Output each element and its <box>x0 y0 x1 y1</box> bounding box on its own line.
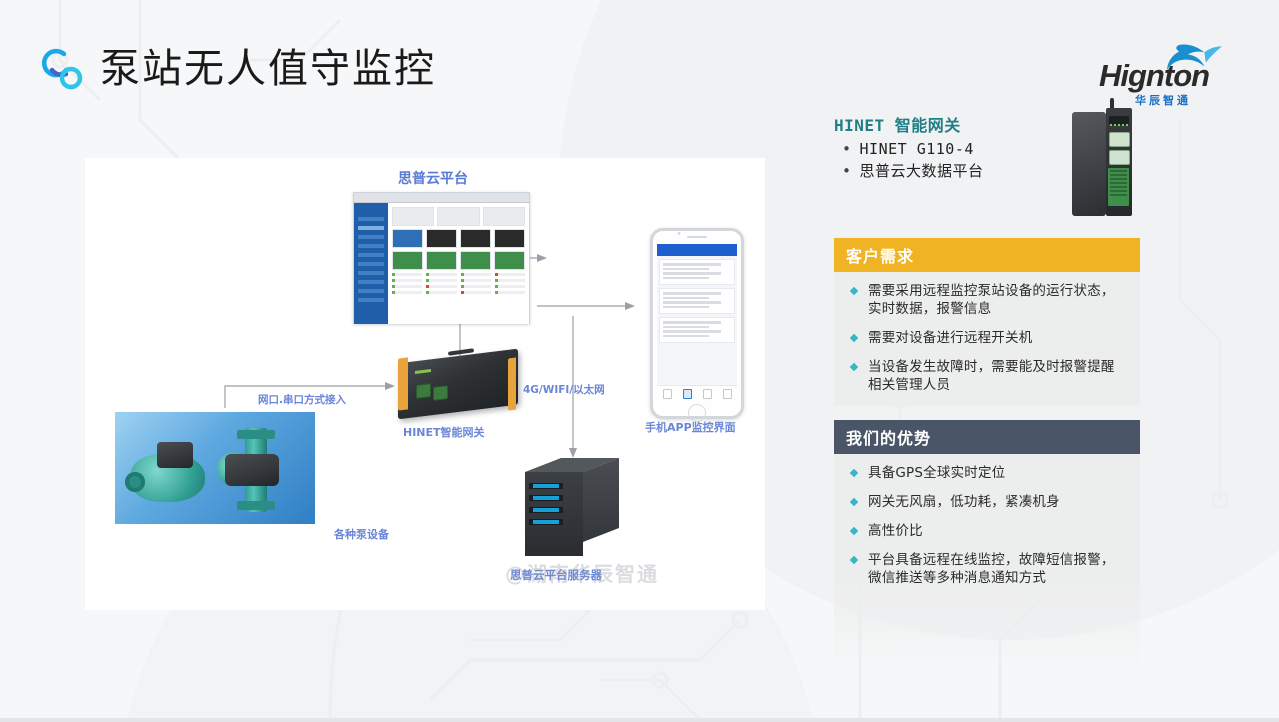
server-drive-bay <box>533 496 559 500</box>
phone-earpiece <box>653 231 741 244</box>
gateway-side-strip <box>398 357 408 410</box>
list-item: 具备GPS全球实时定位 <box>846 464 1128 482</box>
device-rj45-port <box>1109 150 1130 165</box>
industrial-gateway-icon <box>1072 104 1134 224</box>
app-list-item <box>659 288 735 314</box>
arrow-to-server <box>569 448 577 458</box>
watermark-text: @湖南华辰智通 <box>505 558 659 587</box>
dashboard-content <box>388 203 529 324</box>
arrow-to-cloud <box>537 254 547 262</box>
cloud-platform-label: 思普云平台 <box>398 168 468 188</box>
customer-needs-title: 客户需求 <box>834 238 1140 272</box>
architecture-diagram: 思普云平台 <box>85 158 765 610</box>
interlocking-rings-icon <box>34 40 92 96</box>
company-logo: Hignton 华辰智通 <box>1099 42 1239 110</box>
app-titlebar <box>657 244 737 256</box>
phone-caption: 手机APP监控界面 <box>645 419 736 435</box>
wireless-link-label: 4G/WIFI/以太网 <box>523 382 605 397</box>
pumps-caption: 各种泵设备 <box>334 526 389 542</box>
server-drive-bay <box>533 508 559 512</box>
brand-name: Hignton <box>1099 58 1209 94</box>
device-led-panel <box>1109 116 1129 125</box>
pump-unit <box>219 428 291 512</box>
server-drive-bay <box>533 520 559 524</box>
gateway-ethernet-port <box>433 385 448 401</box>
serial-link-label: 网口.串口方式接入 <box>258 392 346 407</box>
server-side <box>583 458 619 542</box>
cloud-dashboard-screenshot <box>353 192 530 324</box>
customer-needs-panel: 客户需求 需要采用远程监控泵站设备的运行状态，实时数据，报警信息 需要对设备进行… <box>834 238 1140 406</box>
dashboard-sidebar <box>354 203 388 324</box>
pump-unit <box>131 442 205 504</box>
slide-header: 泵站无人值守监控 Hignton 华辰智通 <box>0 24 1279 112</box>
advantages-panel: 我们的优势 具备GPS全球实时定位 网关无风扇，低功耗，紧凑机身 高性价比 平台… <box>834 420 1140 669</box>
list-item: 网关无风扇，低功耗，紧凑机身 <box>846 493 1128 511</box>
gateway-ethernet-port <box>416 383 431 399</box>
gateway-body <box>398 349 518 420</box>
arrow-to-phone <box>625 302 635 310</box>
list-item: 需要采用远程监控泵站设备的运行状态，实时数据，报警信息 <box>846 282 1128 318</box>
brand-subtitle: 华辰智通 <box>1135 92 1191 108</box>
app-tabbar <box>657 385 737 402</box>
app-screen <box>657 256 737 385</box>
pump-equipment-photo <box>115 412 315 524</box>
list-item: 高性价比 <box>846 522 1128 540</box>
app-list-item <box>659 259 735 285</box>
gateway-caption: HINET智能网关 <box>403 424 485 440</box>
right-column: HINET 智能网关 HINET G110-4 思普云大数据平台 客户需求 需要… <box>834 112 1140 669</box>
gateway-side-strip-right <box>508 358 516 411</box>
list-item: 需要对设备进行远程开关机 <box>846 329 1128 347</box>
advantages-list: 具备GPS全球实时定位 网关无风扇，低功耗，紧凑机身 高性价比 平台具备远程在线… <box>834 454 1140 669</box>
advantages-title: 我们的优势 <box>834 420 1140 454</box>
device-rj45-port <box>1109 132 1130 147</box>
device-side <box>1072 112 1106 216</box>
gateway-device-illustration <box>390 348 530 420</box>
server-drive-bay <box>533 484 559 488</box>
product-block: HINET 智能网关 HINET G110-4 思普云大数据平台 <box>834 112 1140 224</box>
slide-root: 泵站无人值守监控 Hignton 华辰智通 <box>0 0 1279 722</box>
customer-needs-list: 需要采用远程监控泵站设备的运行状态，实时数据，报警信息 需要对设备进行远程开关机… <box>834 272 1140 406</box>
bottom-divider <box>0 718 1279 722</box>
mobile-app-mockup <box>650 228 744 419</box>
list-item: 当设备发生故障时，需要能及时报警提醒相关管理人员 <box>846 358 1128 394</box>
page-title: 泵站无人值守监控 <box>100 36 436 94</box>
list-item: 平台具备远程在线监控，故障短信报警，微信推送等多种消息通知方式 <box>846 551 1128 587</box>
app-list-item <box>659 317 735 343</box>
device-terminal-block <box>1108 168 1129 206</box>
dashboard-titlebar <box>354 193 529 203</box>
server-illustration <box>525 458 621 560</box>
